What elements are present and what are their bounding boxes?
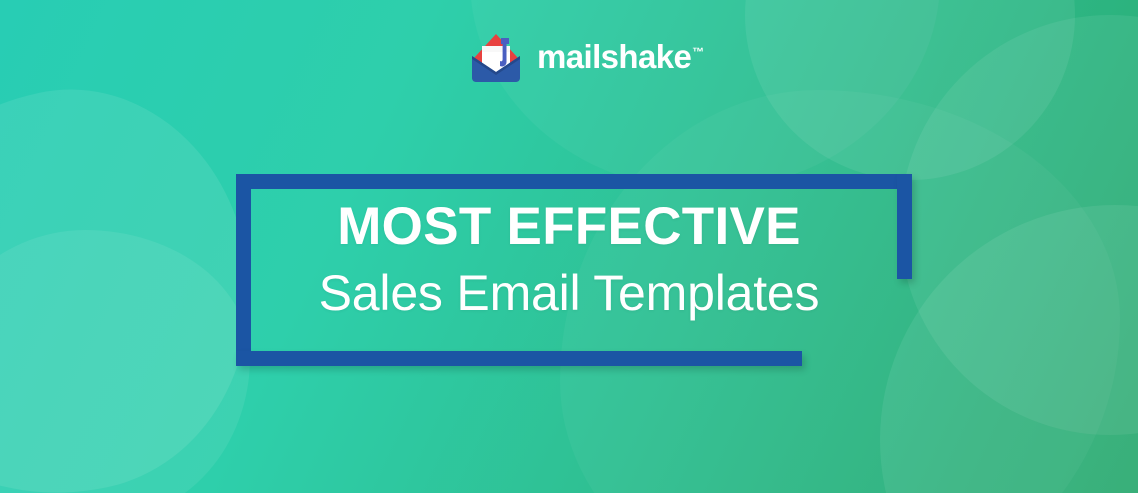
frame-bar-top xyxy=(236,174,912,189)
mailshake-logo: mailshake™ xyxy=(468,28,704,84)
mailshake-wordmark-text: mailshake xyxy=(537,38,691,75)
mailshake-envelope-icon xyxy=(468,28,524,84)
frame-bar-bottom xyxy=(236,351,802,366)
headline-primary: MOST EFFECTIVE xyxy=(0,198,1138,255)
headline-secondary: Sales Email Templates xyxy=(0,265,1138,321)
trademark-symbol: ™ xyxy=(692,45,704,59)
mailshake-wordmark: mailshake™ xyxy=(537,40,704,73)
headline-block: MOST EFFECTIVE Sales Email Templates xyxy=(0,198,1138,321)
mailshake-banner: mailshake™ MOST EFFECTIVE Sales Email Te… xyxy=(0,0,1138,493)
